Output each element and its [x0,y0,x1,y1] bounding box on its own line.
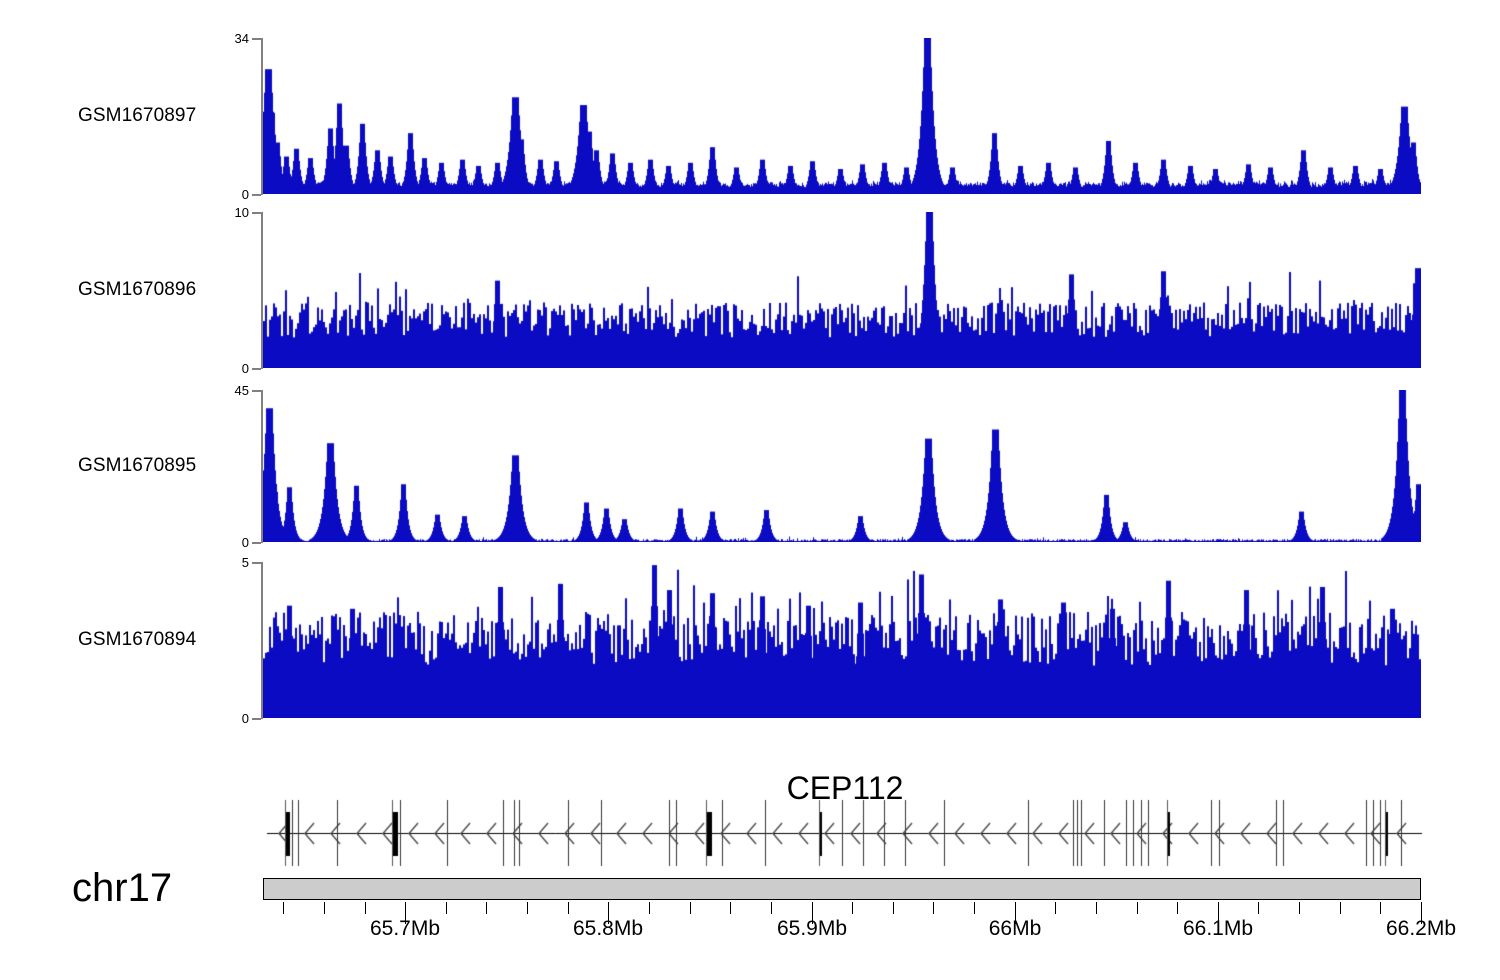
ruler-label-0: 65.7Mb [370,918,440,939]
ruler-minor-tick [771,902,772,914]
ruler-label-1: 65.8Mb [573,918,643,939]
ruler-minor-tick [1258,902,1259,914]
ruler-minor-tick [690,902,691,914]
ruler-minor-tick [1380,902,1381,914]
ruler-minor-tick [365,902,366,914]
ruler-minor-tick [649,902,650,914]
ruler-minor-tick [1299,902,1300,914]
ruler-minor-tick [446,902,447,914]
ruler-label-4: 66.1Mb [1183,918,1253,939]
ruler-minor-tick [933,902,934,914]
ruler-minor-tick [1096,902,1097,914]
ruler-label-5: 66.2Mb [1386,918,1456,939]
ruler-minor-tick [893,902,894,914]
ruler-minor-tick [852,902,853,914]
ruler-minor-tick [486,902,487,914]
ruler-minor-tick [730,902,731,914]
ruler-minor-tick [568,902,569,914]
ruler-label-2: 65.9Mb [777,918,847,939]
ruler-minor-tick [1177,902,1178,914]
ruler-minor-tick [527,902,528,914]
ruler-minor-tick [1055,902,1056,914]
ruler-label-3: 66Mb [989,918,1042,939]
ruler-minor-tick [1340,902,1341,914]
genomic-ruler: 65.7Mb65.8Mb65.9Mb66Mb66.1Mb66.2Mb [0,0,1500,980]
genome-browser-view: GSM1670897340GSM1670896100GSM1670895450G… [0,0,1500,980]
ruler-minor-tick [324,902,325,914]
ruler-minor-tick [1137,902,1138,914]
ruler-minor-tick [283,902,284,914]
ruler-minor-tick [974,902,975,914]
